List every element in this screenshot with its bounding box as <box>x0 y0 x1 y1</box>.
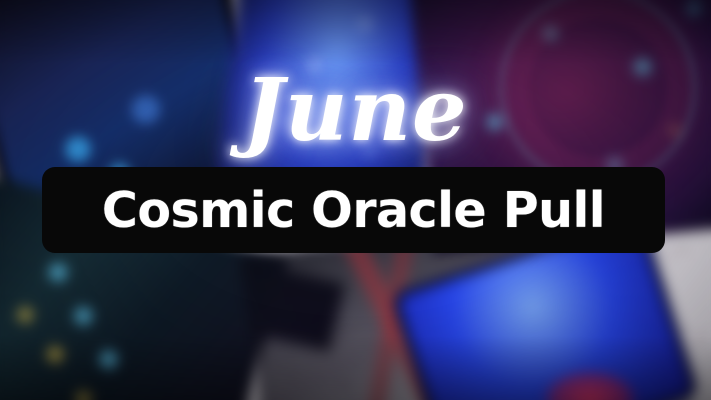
headline-group: June Cosmic Oracle Pull <box>0 0 711 400</box>
month-script-heading: June <box>0 68 711 154</box>
cosmic-oracle-pull-banner: June Cosmic Oracle Pull <box>0 0 711 400</box>
title-banner: Cosmic Oracle Pull <box>42 167 665 253</box>
page-title: Cosmic Oracle Pull <box>102 186 605 235</box>
